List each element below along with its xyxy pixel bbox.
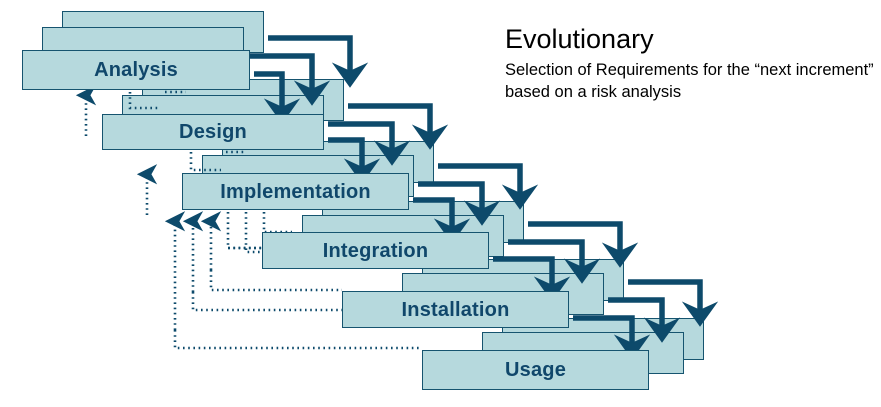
stage-box-installation-1: Installation [342, 291, 569, 328]
stage-label-integration-1: Integration [323, 241, 429, 261]
stage-label-installation-1: Installation [402, 300, 510, 320]
flow-arrow-analysis-to-design-3 [268, 38, 350, 74]
stage-box-design-1: Design [102, 114, 324, 150]
evolutionary-waterfall-diagram: AnalysisAnalysisDesignDesignImplementati… [0, 0, 881, 407]
stage-box-analysis-1: Analysis [22, 50, 250, 90]
stage-label-implementation-1: Implementation [220, 182, 371, 202]
caption-body: Selection of Requirements for the “next … [505, 59, 875, 104]
stage-box-usage-1: Usage [422, 350, 649, 390]
flow-arrow-design-to-implementation-3 [348, 106, 430, 136]
stage-label-design-1: Design [179, 122, 247, 142]
stage-label-usage-1: Usage [505, 360, 566, 380]
feedback-arrow-implementation-11 [264, 212, 292, 232]
feedback-arrow-implementation-12 [211, 270, 342, 290]
stage-label-analysis-1: Analysis [94, 60, 178, 80]
flow-arrow-installation-to-usage-3 [628, 282, 700, 313]
feedback-arrow-implementation-14 [175, 330, 422, 348]
flow-arrow-implementation-to-integration-3 [438, 166, 520, 196]
caption-title: Evolutionary [505, 25, 875, 55]
caption: Evolutionary Selection of Requirements f… [505, 25, 875, 103]
stage-box-integration-1: Integration [262, 232, 489, 269]
flow-arrow-integration-to-installation-3 [528, 224, 620, 254]
stage-box-implementation-1: Implementation [182, 173, 409, 210]
